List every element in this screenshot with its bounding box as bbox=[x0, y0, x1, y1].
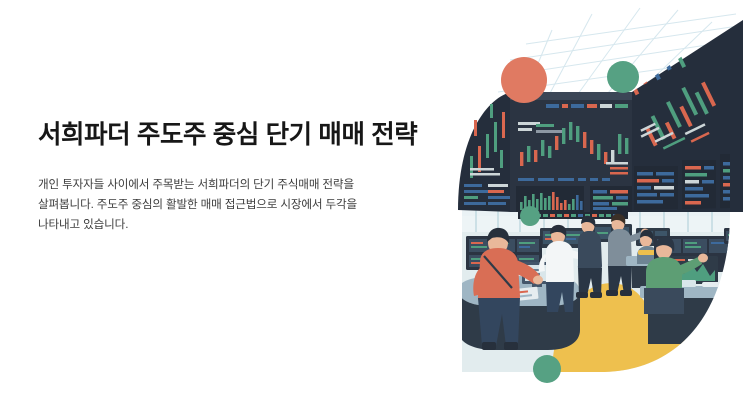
page-root: 서희파더 주도주 중심 단기 매매 전략 개인 투자자들 사이에서 주목받는 서… bbox=[0, 0, 743, 418]
coral-circle-top bbox=[501, 57, 547, 103]
right-workstation bbox=[640, 236, 743, 344]
text-column: 서희파더 주도주 중심 단기 매매 전략 개인 투자자들 사이에서 주목받는 서… bbox=[38, 118, 428, 235]
display-panel-center bbox=[510, 92, 634, 212]
center-panel-data-rows bbox=[590, 186, 632, 212]
page-title: 서희파더 주도주 중심 단기 매매 전략 bbox=[38, 118, 428, 153]
illustration-svg bbox=[440, 0, 743, 418]
page-description: 개인 투자자들 사이에서 주목받는 서희파더의 단기 주식매매 전략을 살펴봅니… bbox=[38, 175, 398, 235]
trading-floor-illustration bbox=[440, 0, 743, 418]
green-circle-top bbox=[607, 61, 639, 93]
far-right-monitors bbox=[724, 228, 743, 244]
green-circle-mid bbox=[520, 206, 540, 226]
green-circle-bottom bbox=[533, 355, 561, 383]
ticker-chips bbox=[546, 104, 628, 108]
display-panel-left bbox=[458, 92, 512, 212]
